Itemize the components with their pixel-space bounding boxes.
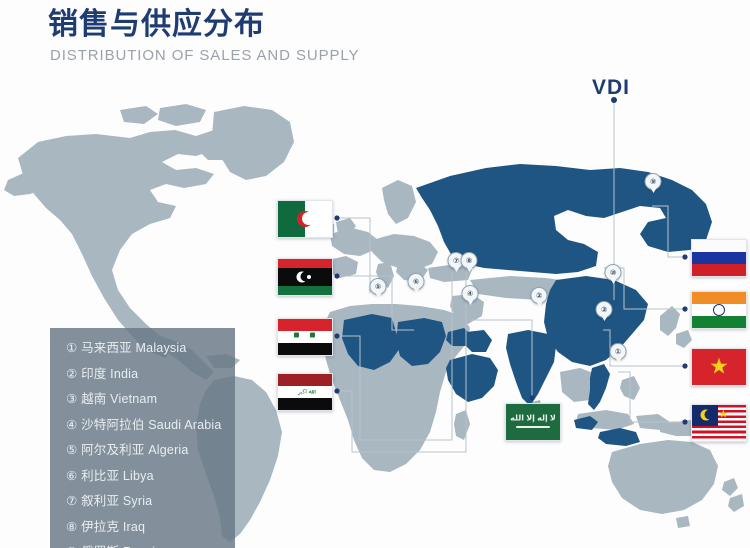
- marker-pin-saudi-arabia: ④: [462, 285, 479, 302]
- flag-syria-red-stripe: [278, 319, 332, 331]
- flag-india-green-stripe: [692, 316, 746, 328]
- marker-pin-malaysia: ①: [610, 343, 627, 360]
- legend-item-syria[interactable]: ⑦ 叙利亚 Syria: [50, 495, 235, 508]
- legend-item-vietnam[interactable]: ③ 越南 Vietnam: [50, 393, 235, 406]
- highlight-iraq: [464, 330, 492, 352]
- marker-pin-vietnam: ③: [596, 301, 613, 318]
- page-header: 销售与供应分布 DISTRIBUTION OF SALES AND SUPPLY: [48, 8, 359, 64]
- land-canada-isles: [158, 104, 206, 126]
- land-japan2: [676, 330, 692, 348]
- legend-item-iraq[interactable]: ⑧ 伊拉克 Iraq: [50, 521, 235, 534]
- marker-number-india: ②: [536, 292, 542, 300]
- highlight-vietnam: [588, 364, 610, 410]
- marker-pin-algeria: ⑤: [370, 278, 387, 295]
- map-marker-libya[interactable]: ⑥: [408, 273, 423, 288]
- flag-libya[interactable]: [277, 258, 333, 296]
- map-marker-saudi-arabia[interactable]: ④: [462, 285, 477, 300]
- highlight-malaysia: [598, 428, 640, 446]
- marker-number-vietnam: ③: [601, 306, 607, 314]
- map-marker-algeria[interactable]: ⑤: [370, 278, 385, 293]
- flag-india-saffron-stripe: [692, 292, 746, 304]
- map-marker-malaysia[interactable]: ①: [610, 343, 625, 358]
- flag-libya-crescent: [296, 272, 307, 283]
- flag-syria-black-stripe: [278, 343, 332, 355]
- marker-number-libya: ⑥: [413, 278, 419, 286]
- flag-syria-star-right: [310, 333, 315, 338]
- flag-algeria-crescent-star: [297, 211, 313, 227]
- flag-saudi-arabia[interactable]: لا إله إلا الله: [505, 403, 561, 441]
- flag-syria-white-stripe: [278, 331, 332, 343]
- page-title-en: DISTRIBUTION OF SALES AND SUPPLY: [50, 47, 359, 64]
- marker-number-russia: ⑨: [650, 178, 656, 186]
- land-canada-isles2: [120, 106, 158, 124]
- flag-iraq[interactable]: ﷲ ﺍﻛﺑﺭ: [277, 373, 333, 411]
- legend-item-malaysia[interactable]: ① 马来西亚 Malaysia: [50, 342, 235, 355]
- land-scandinavia: [382, 180, 416, 224]
- flag-russia[interactable]: [691, 239, 747, 277]
- flag-russia-blue-stripe: [692, 252, 746, 264]
- flag-malaysia-star: ★: [718, 410, 728, 421]
- land-nz2: [728, 494, 744, 512]
- flag-vietnam-star: ★: [709, 356, 729, 378]
- marker-number-iraq: ⑧: [466, 257, 472, 265]
- country-legend: ① 马来西亚 Malaysia ② 印度 India ③ 越南 Vietnam …: [50, 328, 235, 548]
- legend-item-india[interactable]: ② 印度 India: [50, 368, 235, 381]
- flag-libya-star: [307, 275, 311, 279]
- page-title-cn: 销售与供应分布: [48, 8, 359, 41]
- flag-syria[interactable]: [277, 318, 333, 356]
- marker-number-saudi-arabia: ④: [467, 290, 473, 298]
- map-marker-india[interactable]: ②: [531, 287, 546, 302]
- flag-iraq-red-stripe: [278, 374, 332, 386]
- map-marker-china[interactable]: ⑩: [605, 264, 620, 279]
- highlight-india: [506, 330, 556, 406]
- legend-item-libya[interactable]: ⑥ 利比亚 Libya: [50, 470, 235, 483]
- flag-malaysia-crescent: [701, 410, 712, 421]
- land-philippines: [620, 376, 640, 400]
- map-marker-vietnam[interactable]: ③: [596, 301, 611, 316]
- marker-pin-russia: ⑨: [645, 173, 662, 190]
- land-north-america: [18, 128, 248, 358]
- land-japan: [660, 306, 680, 336]
- marker-number-china: ⑩: [610, 269, 616, 277]
- map-marker-iraq[interactable]: ⑧: [461, 252, 476, 267]
- land-europe-west: [330, 228, 378, 256]
- flag-russia-white-stripe: [692, 240, 746, 252]
- map-marker-russia[interactable]: ⑨: [645, 173, 660, 188]
- vdi-logo: VDI: [592, 76, 630, 100]
- marker-number-malaysia: ①: [615, 348, 621, 356]
- legend-item-algeria[interactable]: ⑤ 阿尔及利亚 Algeria: [50, 444, 235, 457]
- flag-saudi-shahada-script: لا إله إلا الله: [510, 413, 556, 422]
- flag-india[interactable]: [691, 291, 747, 329]
- flag-saudi-sword: [516, 426, 551, 428]
- marker-number-syria: ⑦: [453, 257, 459, 265]
- land-australia: [608, 440, 718, 514]
- flag-libya-green-stripe: [278, 286, 332, 295]
- land-tasmania: [676, 516, 690, 528]
- slide-canvas: 销售与供应分布 DISTRIBUTION OF SALES AND SUPPLY: [0, 0, 750, 548]
- flag-iraq-black-stripe: [278, 398, 332, 410]
- flag-iraq-takbir-script: ﷲ ﺍﻛﺑﺭ: [298, 389, 312, 396]
- highlight-china: [544, 276, 648, 366]
- flag-syria-star-left: [294, 333, 299, 338]
- marker-pin-libya: ⑥: [408, 273, 425, 290]
- flag-algeria[interactable]: [277, 200, 333, 238]
- flag-russia-red-stripe: [692, 264, 746, 276]
- flag-libya-red-stripe: [278, 259, 332, 268]
- land-nz1: [722, 478, 738, 496]
- marker-pin-china: ⑩: [605, 264, 622, 281]
- flag-vietnam[interactable]: ★: [691, 348, 747, 386]
- highlight-saudi: [446, 354, 498, 402]
- legend-item-saudi-arabia[interactable]: ④ 沙特阿拉伯 Saudi Arabia: [50, 419, 235, 432]
- marker-number-algeria: ⑤: [375, 283, 381, 291]
- land-madagascar: [454, 410, 470, 440]
- marker-pin-india: ②: [531, 287, 548, 304]
- flag-india-ashoka-chakra: [713, 304, 725, 316]
- marker-pin-iraq: ⑧: [461, 252, 478, 269]
- flag-malaysia[interactable]: ★: [691, 404, 747, 442]
